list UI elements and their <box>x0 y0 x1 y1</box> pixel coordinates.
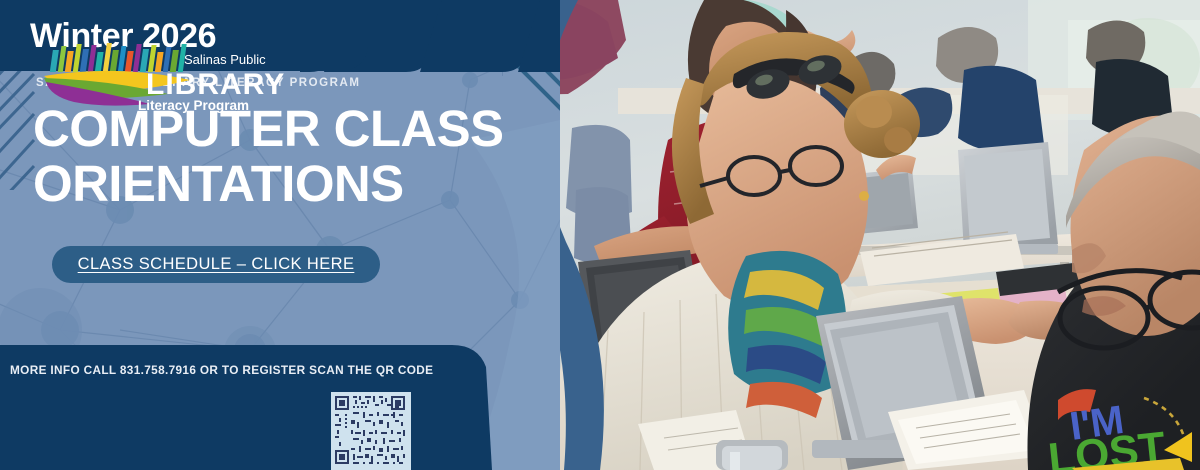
class-schedule-button-label: CLASS SCHEDULE – CLICK HERE <box>78 255 355 274</box>
class-schedule-button[interactable]: CLASS SCHEDULE – CLICK HERE <box>52 246 380 283</box>
classroom-photo: I'M LOST <box>468 0 1200 470</box>
contact-footer: MORE INFO CALL 831.758.7916 OR TO REGIST… <box>0 345 492 470</box>
library-logo: Salinas Public LIBRARY Literacy Program <box>36 42 288 116</box>
svg-text:LIBRARY: LIBRARY <box>146 68 285 101</box>
svg-text:Salinas Public: Salinas Public <box>184 52 266 67</box>
svg-text:Literacy Program: Literacy Program <box>138 98 249 113</box>
page-title: COMPUTER CLASS ORIENTATIONS <box>33 101 503 211</box>
qr-code[interactable] <box>331 392 411 470</box>
more-info-text: MORE INFO CALL 831.758.7916 OR TO REGIST… <box>10 363 433 377</box>
headline-line-2: ORIENTATIONS <box>33 156 503 211</box>
promo-banner: I'M LOST <box>0 0 1200 470</box>
